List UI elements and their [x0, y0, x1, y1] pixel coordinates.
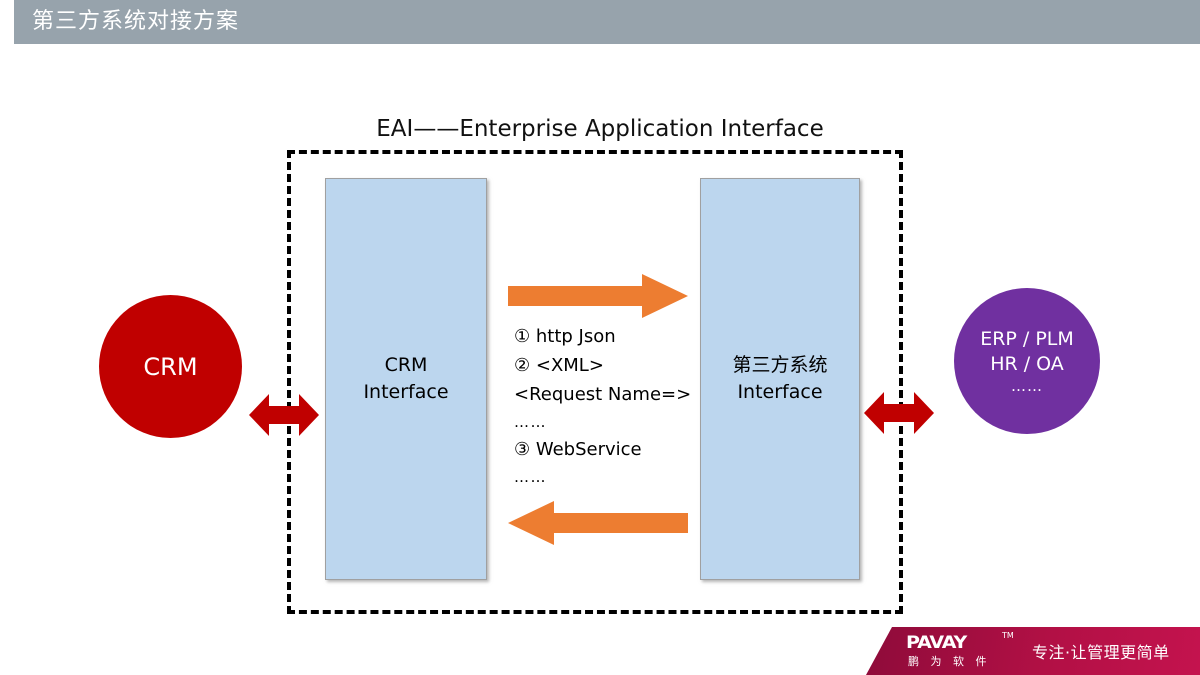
crm-system-circle[interactable]: CRM — [99, 295, 242, 438]
crm-interface-box[interactable]: CRM Interface — [325, 178, 487, 580]
protocol-list: ① http Json ② <XML> <Request Name=> …… ③… — [514, 322, 686, 490]
brand-chinese-name: 鹏 为 软 件 — [908, 653, 991, 669]
external-systems-line2: HR / OA — [990, 352, 1064, 377]
response-flow-arrow-icon — [508, 499, 688, 547]
protocol-item-6: …… — [514, 464, 686, 490]
protocol-item-5: ③ WebService — [514, 435, 686, 464]
crm-interface-label-line1: CRM — [385, 352, 428, 379]
header-left-accent — [0, 0, 14, 44]
brand-tagline: 专注·让管理更简单 — [1032, 639, 1170, 663]
thirdparty-interface-box[interactable]: 第三方系统 Interface — [700, 178, 860, 580]
slide-header-bar: 第三方系统对接方案 — [0, 0, 1200, 44]
page-title: 第三方系统对接方案 — [32, 7, 239, 37]
protocol-item-3: <Request Name=> — [514, 380, 686, 409]
thirdparty-interface-label-line2: Interface — [737, 379, 822, 406]
interface-to-external-connector-icon — [864, 384, 934, 442]
protocol-item-2: ② <XML> — [514, 351, 686, 380]
crm-interface-label-line2: Interface — [363, 379, 448, 406]
external-systems-line1: ERP / PLM — [980, 327, 1074, 352]
request-flow-arrow-icon — [508, 272, 688, 320]
external-systems-line3: …… — [1011, 377, 1043, 395]
diagram-title: EAI——Enterprise Application Interface — [290, 114, 910, 144]
thirdparty-interface-label-line1: 第三方系统 — [732, 352, 827, 379]
slide-canvas: EAI——Enterprise Application Interface CR… — [0, 44, 1200, 675]
brand-wordmark: PAVAY — [906, 633, 966, 653]
protocol-item-4: …… — [514, 409, 686, 435]
crm-to-interface-connector-icon — [249, 386, 319, 444]
footer-brand-bar: PAVAY TM 鹏 为 软 件 专注·让管理更简单 — [866, 627, 1200, 675]
crm-system-label: CRM — [143, 352, 197, 382]
brand-logo: PAVAY TM 鹏 为 软 件 — [906, 633, 1018, 671]
external-systems-circle[interactable]: ERP / PLM HR / OA …… — [954, 288, 1100, 434]
trademark-icon: TM — [1002, 631, 1014, 640]
protocol-item-1: ① http Json — [514, 322, 686, 351]
